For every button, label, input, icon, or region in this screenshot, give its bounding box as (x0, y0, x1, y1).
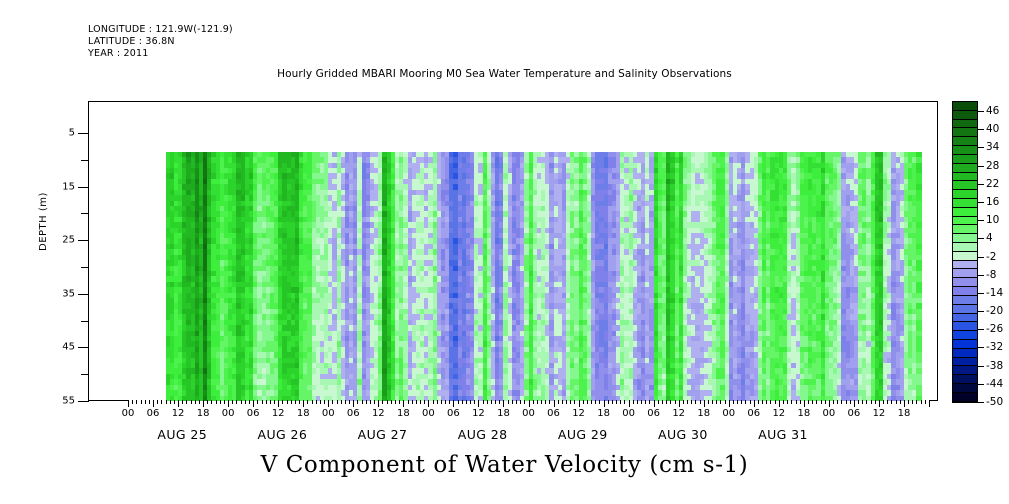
x-axis-tick (620, 400, 621, 404)
x-axis-tick (395, 400, 396, 404)
colorbar-band (953, 340, 977, 349)
x-axis-tick (345, 400, 346, 404)
x-axis-tick (391, 400, 392, 404)
x-axis-tick (228, 400, 229, 407)
x-axis-tick (595, 400, 596, 404)
y-axis-tick (81, 267, 89, 268)
y-axis-tick-label: 5 (69, 128, 75, 139)
x-axis-tick (875, 400, 876, 404)
x-axis-tick-label: 12 (172, 408, 185, 419)
x-axis-tick (516, 400, 517, 404)
x-axis-tick (416, 400, 417, 404)
x-axis-tick (307, 400, 308, 404)
colorbar-band (953, 199, 977, 208)
colorbar-tick (977, 129, 984, 130)
x-axis-tick (132, 400, 133, 404)
x-axis-tick (925, 400, 926, 404)
x-axis-tick (725, 400, 726, 404)
heatmap-canvas-wrap (128, 133, 929, 401)
x-axis-tick (862, 400, 863, 404)
colorbar-band (953, 173, 977, 182)
colorbar-tick-label: 10 (986, 214, 999, 226)
x-axis-tick (729, 400, 730, 407)
x-axis-tick (141, 400, 142, 404)
x-axis-tick (503, 400, 504, 407)
x-axis-tick (821, 400, 822, 404)
colorbar-tick-label: 4 (986, 232, 993, 244)
x-axis-tick (220, 400, 221, 404)
x-axis-tick (186, 400, 187, 404)
x-axis-tick-label: 18 (898, 408, 911, 419)
x-axis-tick (174, 400, 175, 404)
x-axis-tick (887, 400, 888, 404)
x-axis-tick (833, 400, 834, 404)
y-axis-tick (78, 347, 89, 348)
colorbar-band (953, 164, 977, 173)
x-axis-tick (529, 400, 530, 407)
x-axis-tick (145, 400, 146, 404)
x-axis-tick-label: 06 (547, 408, 560, 419)
x-axis-tick-label: 00 (222, 408, 235, 419)
x-axis-day-label: AUG 26 (258, 427, 308, 442)
x-axis-tick-label: 06 (447, 408, 460, 419)
x-axis-tick-label: 12 (472, 408, 485, 419)
colorbar-tick (977, 257, 984, 258)
colorbar-band (953, 349, 977, 358)
x-axis-tick (808, 400, 809, 404)
colorbar-band (953, 278, 977, 287)
x-axis-tick (770, 400, 771, 404)
x-axis-tick (216, 400, 217, 404)
y-axis-tick (81, 160, 89, 161)
x-axis-tick (533, 400, 534, 404)
x-axis-tick (474, 400, 475, 404)
colorbar-tick-label: -2 (986, 251, 996, 263)
x-axis-tick (241, 400, 242, 404)
x-axis-tick (591, 400, 592, 404)
colorbar-tick (977, 275, 984, 276)
colorbar: 464034282216104-2-8-14-20-26-32-38-44-50 (952, 101, 978, 403)
colorbar-tick (977, 238, 984, 239)
x-axis-tick (437, 400, 438, 404)
x-axis-tick (720, 400, 721, 404)
latitude-text: LATITUDE : 36.8N (88, 36, 175, 47)
colorbar-tick (977, 311, 984, 312)
colorbar-tick (977, 402, 984, 403)
x-axis-tick (537, 400, 538, 404)
colorbar-tick-label: -8 (986, 269, 996, 281)
x-axis-tick (687, 400, 688, 404)
x-axis-tick-label: 00 (322, 408, 335, 419)
x-axis-tick (487, 400, 488, 404)
x-axis-tick-label: 06 (647, 408, 660, 419)
colorbar-band (953, 322, 977, 331)
x-axis-tick (570, 400, 571, 404)
x-axis-tick (470, 400, 471, 404)
y-axis-tick-label: 15 (62, 181, 75, 192)
x-axis-tick (211, 400, 212, 404)
y-axis-tick (81, 321, 89, 322)
x-axis-tick (357, 400, 358, 404)
x-axis-tick (658, 400, 659, 404)
x-axis-tick (708, 400, 709, 404)
x-axis-tick (170, 400, 171, 404)
x-axis-tick (679, 400, 680, 407)
x-axis-tick (278, 400, 279, 407)
x-axis-tick (378, 400, 379, 407)
x-axis-tick (579, 400, 580, 407)
x-axis-tick (191, 400, 192, 404)
x-axis-tick (612, 400, 613, 404)
x-axis-tick (453, 400, 454, 407)
colorbar-tick-label: -44 (986, 378, 1003, 390)
x-axis-tick (921, 400, 922, 404)
y-axis-tick (81, 374, 89, 375)
x-axis-tick (245, 400, 246, 404)
x-axis-tick (745, 400, 746, 404)
colorbar-band (953, 137, 977, 146)
x-axis-tick (762, 400, 763, 404)
colorbar-tick (977, 184, 984, 185)
x-axis-tick (199, 400, 200, 404)
x-axis-tick (332, 400, 333, 404)
x-axis-tick (195, 400, 196, 404)
x-axis-tick (299, 400, 300, 404)
colorbar-tick-label: 40 (986, 123, 999, 135)
x-axis-tick-label: 18 (497, 408, 510, 419)
colorbar-tick (977, 166, 984, 167)
x-axis-tick (341, 400, 342, 404)
x-axis-tick (791, 400, 792, 404)
x-axis-tick (424, 400, 425, 404)
x-axis-tick (675, 400, 676, 404)
figure-caption: V Component of Water Velocity (cm s-1) (0, 452, 1009, 478)
x-axis-tick-label: 12 (772, 408, 785, 419)
x-axis-tick (520, 400, 521, 404)
x-axis-tick (583, 400, 584, 404)
x-axis-tick (700, 400, 701, 404)
plot-frame: 51525354555 0006121800061218000612180006… (88, 101, 938, 401)
x-axis-tick (282, 400, 283, 404)
x-axis-tick (787, 400, 788, 404)
x-axis-tick (854, 400, 855, 407)
colorbar-band (953, 234, 977, 243)
x-axis-tick-label: 06 (747, 408, 760, 419)
x-axis-tick (128, 400, 129, 407)
y-axis-tick-label: 25 (62, 235, 75, 246)
colorbar-tick (977, 202, 984, 203)
y-axis-tick (78, 240, 89, 241)
colorbar-band (953, 120, 977, 129)
x-axis-tick-label: 00 (823, 408, 836, 419)
y-axis-tick (78, 133, 89, 134)
x-axis-day-label: AUG 25 (157, 427, 207, 442)
x-axis-tick-label: 18 (397, 408, 410, 419)
x-axis-tick (558, 400, 559, 404)
x-axis-tick (136, 400, 137, 404)
x-axis-tick (366, 400, 367, 404)
x-axis-tick (691, 400, 692, 404)
x-axis-tick (733, 400, 734, 404)
longitude-text: LONGITUDE : 121.9W(-121.9) (88, 24, 233, 35)
y-axis-tick (78, 187, 89, 188)
x-axis-tick (545, 400, 546, 404)
x-axis-tick (562, 400, 563, 404)
x-axis-tick (399, 400, 400, 404)
x-axis-tick (541, 400, 542, 404)
y-axis-tick (78, 401, 89, 402)
x-axis-tick (236, 400, 237, 404)
x-axis-tick (462, 400, 463, 404)
x-axis-tick (879, 400, 880, 407)
heatmap-canvas (128, 133, 929, 401)
x-axis-tick (149, 400, 150, 404)
x-axis-tick-label: 12 (572, 408, 585, 419)
colorbar-tick-label: -20 (986, 305, 1003, 317)
x-axis-tick (616, 400, 617, 404)
colorbar-tick (977, 220, 984, 221)
x-axis-day-label: AUG 30 (658, 427, 708, 442)
colorbar-band (953, 243, 977, 252)
x-axis-tick (554, 400, 555, 407)
x-axis-tick (825, 400, 826, 404)
x-axis-tick (670, 400, 671, 404)
colorbar-band (953, 384, 977, 393)
x-axis-tick (403, 400, 404, 407)
x-axis-tick (182, 400, 183, 404)
x-axis-tick-label: 18 (597, 408, 610, 419)
x-axis-tick (850, 400, 851, 404)
x-axis-tick (800, 400, 801, 404)
colorbar-band (953, 305, 977, 314)
colorbar-band (953, 252, 977, 261)
x-axis-tick (604, 400, 605, 407)
x-axis-tick (737, 400, 738, 404)
colorbar-band (953, 225, 977, 234)
colorbar-band (953, 190, 977, 199)
colorbar-band (953, 261, 977, 270)
x-axis-tick (420, 400, 421, 404)
x-axis-tick (633, 400, 634, 404)
x-axis-tick (207, 400, 208, 404)
x-axis-tick (816, 400, 817, 404)
colorbar-band (953, 155, 977, 164)
x-axis-tick (253, 400, 254, 407)
x-axis-tick (683, 400, 684, 404)
x-axis-tick (428, 400, 429, 407)
y-axis-tick (78, 294, 89, 295)
colorbar-band (953, 314, 977, 323)
x-axis-tick (408, 400, 409, 404)
colorbar-tick-label: 46 (986, 105, 999, 117)
x-axis-tick (587, 400, 588, 404)
x-axis-tick (224, 400, 225, 404)
colorbar-band (953, 128, 977, 137)
x-axis-tick-label: 00 (422, 408, 435, 419)
x-axis-tick (624, 400, 625, 404)
x-axis-tick-label: 06 (147, 408, 160, 419)
y-axis-tick-label: 35 (62, 288, 75, 299)
colorbar-tick (977, 384, 984, 385)
x-axis-tick (574, 400, 575, 404)
x-axis-tick (804, 400, 805, 407)
x-axis-tick (779, 400, 780, 407)
x-axis-tick (891, 400, 892, 404)
x-axis-tick (161, 400, 162, 404)
x-axis-tick (716, 400, 717, 404)
colorbar-tick-label: -50 (986, 396, 1003, 408)
x-axis-tick (320, 400, 321, 404)
x-axis-tick (266, 400, 267, 404)
colorbar-tick (977, 293, 984, 294)
colorbar-band (953, 269, 977, 278)
colorbar-tick-label: 22 (986, 178, 999, 190)
x-axis-tick-label: 12 (873, 408, 886, 419)
x-axis-tick (303, 400, 304, 407)
colorbar-tick-label: 34 (986, 141, 999, 153)
x-axis-tick (466, 400, 467, 404)
x-axis-tick-label: 18 (197, 408, 210, 419)
x-axis-tick (916, 400, 917, 404)
x-axis-tick (324, 400, 325, 404)
year-text: YEAR : 2011 (88, 48, 149, 59)
x-axis-tick (445, 400, 446, 404)
x-axis-tick (441, 400, 442, 404)
y-axis-tick-label: 45 (62, 342, 75, 353)
colorbar-band (953, 181, 977, 190)
colorbar-band (953, 331, 977, 340)
x-axis-day-label: AUG 27 (358, 427, 408, 442)
x-axis-tick (370, 400, 371, 404)
x-axis-tick (775, 400, 776, 404)
colorbar-tick (977, 366, 984, 367)
x-axis-tick (483, 400, 484, 404)
colorbar-band (953, 358, 977, 367)
colorbar-tick-label: -26 (986, 323, 1003, 335)
x-axis-tick (349, 400, 350, 404)
x-axis-tick-label: 06 (848, 408, 861, 419)
x-axis-tick (645, 400, 646, 404)
x-axis-tick (524, 400, 525, 404)
x-axis-tick (704, 400, 705, 407)
x-axis-tick (871, 400, 872, 404)
x-axis-tick (412, 400, 413, 404)
colorbar-band (953, 393, 977, 402)
x-axis-tick (262, 400, 263, 404)
x-axis-tick (166, 400, 167, 404)
x-axis-tick (270, 400, 271, 404)
x-axis-tick (257, 400, 258, 404)
x-axis-tick (829, 400, 830, 407)
x-axis-tick-label: 18 (697, 408, 710, 419)
x-axis-tick (491, 400, 492, 404)
x-axis-tick-label: 18 (297, 408, 310, 419)
x-axis-day-label: AUG 31 (758, 427, 808, 442)
x-axis-tick (566, 400, 567, 404)
x-axis-tick-label: 12 (672, 408, 685, 419)
x-axis-tick-label: 12 (372, 408, 385, 419)
x-axis-tick (433, 400, 434, 404)
x-axis-tick (766, 400, 767, 404)
x-axis-tick (274, 400, 275, 404)
x-axis-tick (908, 400, 909, 404)
x-axis-tick (858, 400, 859, 404)
x-axis-tick (883, 400, 884, 404)
x-axis-tick (641, 400, 642, 404)
colorbar-band (953, 217, 977, 226)
x-axis-tick (291, 400, 292, 404)
colorbar-tick (977, 111, 984, 112)
x-axis-tick-label: 00 (522, 408, 535, 419)
x-axis-tick (249, 400, 250, 404)
colorbar-tick-label: -14 (986, 287, 1003, 299)
x-axis-tick-label: 06 (247, 408, 260, 419)
x-axis-tick (362, 400, 363, 404)
colorbar-band (953, 287, 977, 296)
colorbar-tick (977, 329, 984, 330)
x-axis-tick-label: 00 (722, 408, 735, 419)
x-axis-tick-label: 00 (122, 408, 135, 419)
x-axis-tick (312, 400, 313, 404)
colorbar-band (953, 375, 977, 384)
x-axis-tick (203, 400, 204, 407)
x-axis-tick-label: 06 (347, 408, 360, 419)
colorbar-tick-label: 16 (986, 196, 999, 208)
x-axis-tick (295, 400, 296, 404)
x-axis-tick (608, 400, 609, 404)
x-axis-tick (449, 400, 450, 404)
x-axis-tick (374, 400, 375, 404)
x-axis-tick (287, 400, 288, 404)
colorbar-tick (977, 147, 984, 148)
x-axis-tick (900, 400, 901, 404)
x-axis-tick (754, 400, 755, 407)
x-axis-tick-label: 00 (622, 408, 635, 419)
x-axis-tick (712, 400, 713, 404)
x-axis-tick (695, 400, 696, 404)
x-axis-tick (153, 400, 154, 407)
x-axis-tick (512, 400, 513, 404)
x-axis-tick (929, 400, 930, 407)
x-axis-tick (499, 400, 500, 404)
x-axis-tick (837, 400, 838, 404)
x-axis-tick (796, 400, 797, 404)
colorbar-band (953, 146, 977, 155)
x-axis-tick-label: 18 (797, 408, 810, 419)
colorbar-band (953, 102, 977, 111)
x-axis-day-label: AUG 29 (558, 427, 608, 442)
colorbar-tick (977, 347, 984, 348)
colorbar-tick-label: -32 (986, 341, 1003, 353)
x-axis-tick (232, 400, 233, 404)
y-axis-label: DEPTH (m) (38, 192, 49, 251)
x-axis-tick (666, 400, 667, 404)
x-axis-tick (741, 400, 742, 404)
x-axis-tick (353, 400, 354, 407)
station-metadata: LONGITUDE : 121.9W(-121.9) LATITUDE : 36… (88, 24, 233, 59)
colorbar-band (953, 296, 977, 305)
x-axis-tick (178, 400, 179, 407)
page-title: Hourly Gridded MBARI Mooring M0 Sea Wate… (0, 68, 1009, 80)
y-axis-tick (81, 213, 89, 214)
x-axis-tick (508, 400, 509, 404)
y-axis-tick-label: 55 (62, 396, 75, 407)
x-axis-tick (846, 400, 847, 404)
x-axis-tick (599, 400, 600, 404)
x-axis-tick (337, 400, 338, 404)
x-axis-tick (629, 400, 630, 407)
colorbar-tick-label: 28 (986, 160, 999, 172)
